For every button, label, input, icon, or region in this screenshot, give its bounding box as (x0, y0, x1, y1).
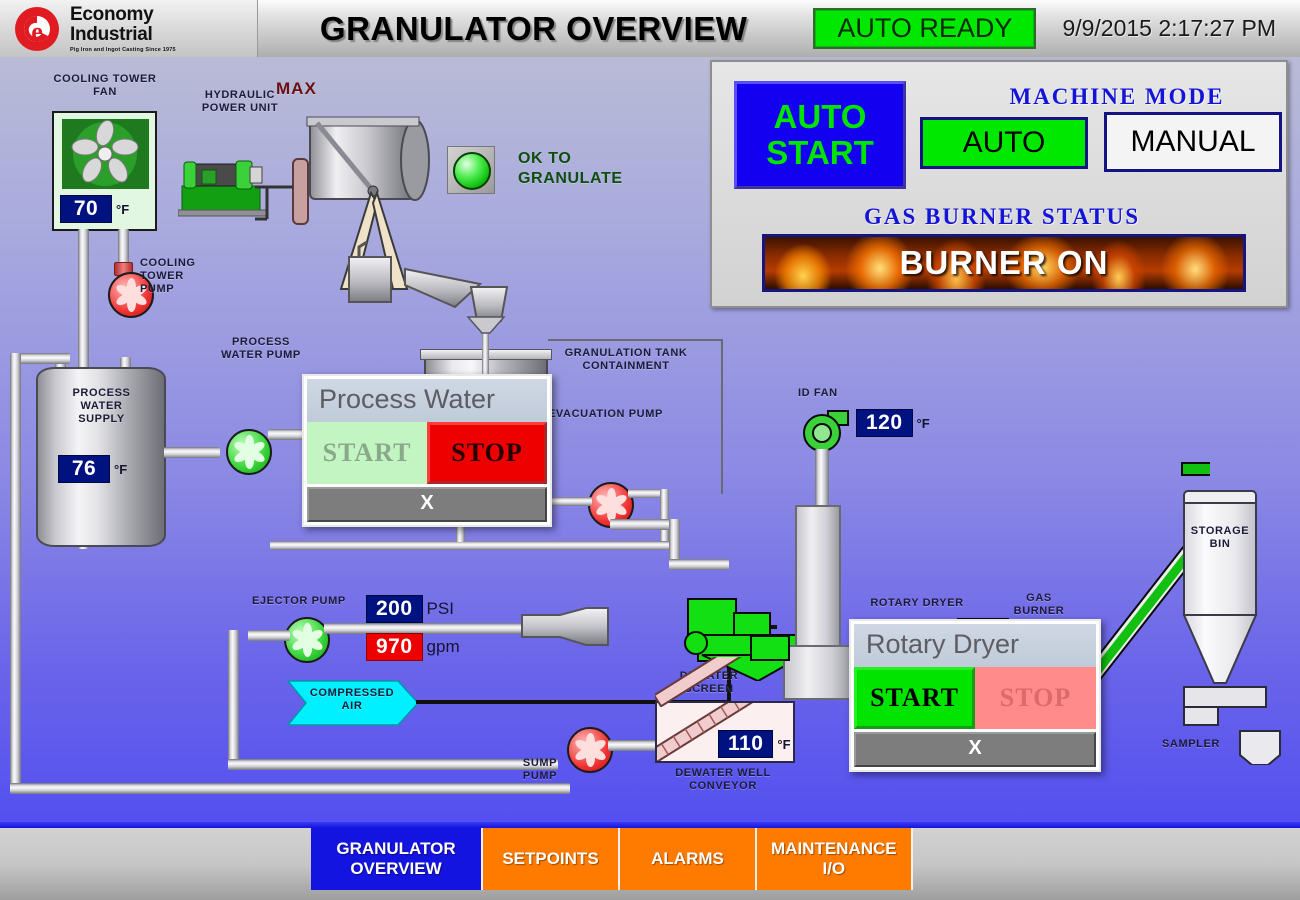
ca-l2: AIR (342, 700, 363, 712)
process-water-start-button[interactable]: START (307, 422, 427, 484)
venturi-nozzle-graphic (520, 605, 610, 656)
cooling-tower-fan-panel[interactable]: 70 °F (52, 111, 157, 231)
ctf-l2: FAN (93, 86, 117, 98)
ok-to-granulate-label: OK TO GRANULATE (518, 149, 688, 189)
sb-l1: STORAGE (1191, 525, 1249, 537)
sb-l2: BIN (1210, 538, 1231, 550)
id-fan-readout: 120 °F (856, 409, 930, 437)
ejector-pressure-unit: PSI (427, 599, 454, 619)
ctf-unit: °F (116, 202, 129, 217)
logo-line-2: Industrial (70, 25, 176, 45)
auto-start-line-1: AUTO (774, 99, 867, 135)
ctf-l1: COOLING TOWER (54, 73, 157, 85)
sump-pump[interactable] (567, 727, 613, 773)
gb-l2: BURNER (1014, 605, 1065, 617)
cooling-tower-pump-label: COOLING TOWER PUMP (140, 257, 235, 296)
storage-bin-label: STORAGE BIN (1180, 525, 1260, 551)
auto-start-line-2: START (766, 135, 874, 171)
clock-display: 9/9/2015 2:17:27 PM (1062, 15, 1276, 42)
status-badge: AUTO READY (813, 8, 1036, 49)
company-logo: e Economy Industrial Pig Iron and Ingot … (0, 0, 258, 57)
process-water-pump[interactable] (226, 429, 272, 475)
gb-l1: GAS (1026, 592, 1052, 604)
tab1-l1: SETPOINTS (502, 849, 598, 869)
okg-l1: OK TO (518, 150, 571, 167)
dwc-l1: DEWATER WELL (675, 767, 771, 779)
process-water-pump-label: PROCESS WATER PUMP (206, 336, 316, 362)
header-bar: e Economy Industrial Pig Iron and Ingot … (0, 0, 1300, 57)
pws-value: 76 (58, 455, 110, 483)
pipe-far-left-down (10, 507, 21, 787)
compressed-air-label: COMPRESSED AIR (292, 687, 412, 713)
pws-l2: WATER (81, 400, 123, 412)
conveyor-incline-upper (655, 657, 840, 707)
process-water-close-button[interactable]: X (307, 487, 547, 522)
tab2-l1: ALARMS (651, 849, 724, 869)
rotary-dryer-stop-button[interactable]: STOP (975, 667, 1096, 729)
sp-l2: PUMP (523, 770, 557, 782)
ctp-l1: COOLING (140, 257, 196, 269)
okg-l2: GRANULATE (518, 170, 623, 187)
logo-tagline: Pig Iron and Ingot Casting Since 1975 (70, 47, 176, 53)
tab3-l2: I/O (822, 859, 845, 878)
pipe-ds-feed-c (669, 559, 729, 570)
granulation-tank-funnel (466, 315, 506, 340)
footer-nav: GRANULATOROVERVIEW SETPOINTS ALARMS MAIN… (0, 822, 1300, 900)
idfan-unit: °F (917, 416, 930, 431)
mode-auto-button[interactable]: AUTO (920, 117, 1088, 169)
dwc-value: 110 (718, 730, 773, 758)
tab3-l1: MAINTENANCE (771, 839, 897, 858)
ejector-flow-unit: gpm (427, 637, 460, 657)
process-water-supply-readout: 76 °F (58, 455, 127, 483)
cooling-tower-fan-readout: 70 °F (60, 195, 129, 223)
tab-granulator-overview[interactable]: GRANULATOROVERVIEW (311, 828, 483, 890)
pipe-pws-left (10, 353, 21, 513)
gas-burner-status-label: GAS BURNER STATUS (752, 204, 1252, 230)
control-panel: AUTO START MACHINE MODE AUTO MANUAL GAS … (710, 60, 1288, 308)
machine-mode-label: MACHINE MODE (957, 84, 1277, 110)
tab0-l1: GRANULATOR (336, 839, 455, 858)
nav-tabs: GRANULATOROVERVIEW SETPOINTS ALARMS MAIN… (311, 828, 913, 890)
mode-manual-button[interactable]: MANUAL (1104, 112, 1282, 172)
storage-bin-graphic[interactable] (1180, 487, 1260, 692)
pipe-ejector-in (248, 630, 290, 641)
ejector-pressure-readout: 200 PSI (366, 595, 454, 623)
rotary-dryer-start-button[interactable]: START (854, 667, 975, 729)
ctf-value: 70 (60, 195, 112, 223)
ejector-flow-value: 970 (366, 633, 423, 661)
fan-graphic (62, 119, 149, 189)
dewater-well-conveyor-label: DEWATER WELL CONVEYOR (648, 767, 798, 793)
cooling-tower-fan-label: COOLING TOWER FAN (30, 73, 180, 99)
idfan-value: 120 (856, 409, 913, 437)
gas-burner-label: GAS BURNER (1004, 592, 1074, 618)
rotary-dryer-label: ROTARY DRYER (862, 597, 972, 610)
pipe-evac-in (552, 497, 592, 506)
tab-maintenance-io[interactable]: MAINTENANCEI/O (757, 828, 913, 890)
pws-l3: SUPPLY (78, 413, 125, 425)
process-water-dialog-title: Process Water (307, 379, 547, 422)
pwp-l1: PROCESS (232, 336, 290, 348)
dwc-unit: °F (777, 737, 790, 752)
ok-to-granulate-indicator (447, 146, 495, 194)
hmi-screen: e Economy Industrial Pig Iron and Ingot … (0, 0, 1300, 900)
pipe-bottom-return (10, 783, 570, 794)
rotary-dryer-dialog-title: Rotary Dryer (854, 624, 1096, 667)
ctp-l3: PUMP (140, 283, 174, 295)
exhaust-stack (795, 505, 841, 657)
pwp-l2: WATER PUMP (221, 349, 301, 361)
pws-unit: °F (114, 462, 127, 477)
tab-alarms[interactable]: ALARMS (620, 828, 757, 890)
svg-text:e: e (31, 17, 43, 46)
rotary-dryer-close-button[interactable]: X (854, 732, 1096, 767)
sampler-label: SAMPLER (1156, 738, 1226, 751)
id-fan-duct (815, 449, 829, 509)
tab-setpoints[interactable]: SETPOINTS (483, 828, 620, 890)
pipe-pws-out (164, 447, 220, 458)
dewater-conveyor-readout: 110 °F (718, 730, 791, 758)
pipe-ejector-down (228, 630, 239, 770)
process-water-stop-button[interactable]: STOP (427, 422, 547, 484)
tab0-l2: OVERVIEW (350, 859, 441, 878)
pipe-evac-return (270, 541, 670, 550)
max-label: MAX (276, 82, 317, 95)
evacuation-pump-label: EVACUATION PUMP (548, 408, 688, 421)
burner-status-indicator: BURNER ON (762, 234, 1246, 292)
page-title: GRANULATOR OVERVIEW (258, 0, 813, 57)
process-water-dialog[interactable]: Process Water START STOP X (302, 374, 552, 527)
dwc-l2: CONVEYOR (689, 780, 757, 792)
logo-line-1: Economy (70, 5, 176, 25)
burner-status-text: BURNER ON (900, 244, 1109, 282)
auto-start-button[interactable]: AUTO START (734, 81, 906, 189)
sump-pump-label: SUMP PUMP (505, 757, 575, 783)
sp-l1: SUMP (523, 757, 557, 769)
economy-e-logo-icon: e (12, 4, 62, 54)
process-mimic-canvas: AUTO START MACHINE MODE AUTO MANUAL GAS … (0, 57, 1300, 822)
ejector-pressure-value: 200 (366, 595, 423, 623)
ca-l1: COMPRESSED (310, 687, 394, 699)
green-lamp-icon (453, 152, 491, 190)
rotary-dryer-dialog[interactable]: Rotary Dryer START STOP X (849, 619, 1101, 772)
id-fan-label: ID FAN (798, 387, 858, 400)
sampler-graphic[interactable] (1182, 685, 1287, 770)
granulator-ladle-graphic (255, 99, 515, 344)
ctp-l2: TOWER (140, 270, 184, 282)
ejector-pump-label: EJECTOR PUMP (252, 595, 362, 608)
pipe-sump-out (608, 740, 660, 751)
process-water-supply-label: PROCESS WATER SUPPLY (44, 387, 159, 426)
pws-l1: PROCESS (73, 387, 131, 399)
ejector-flow-readout: 970 gpm (366, 633, 460, 661)
